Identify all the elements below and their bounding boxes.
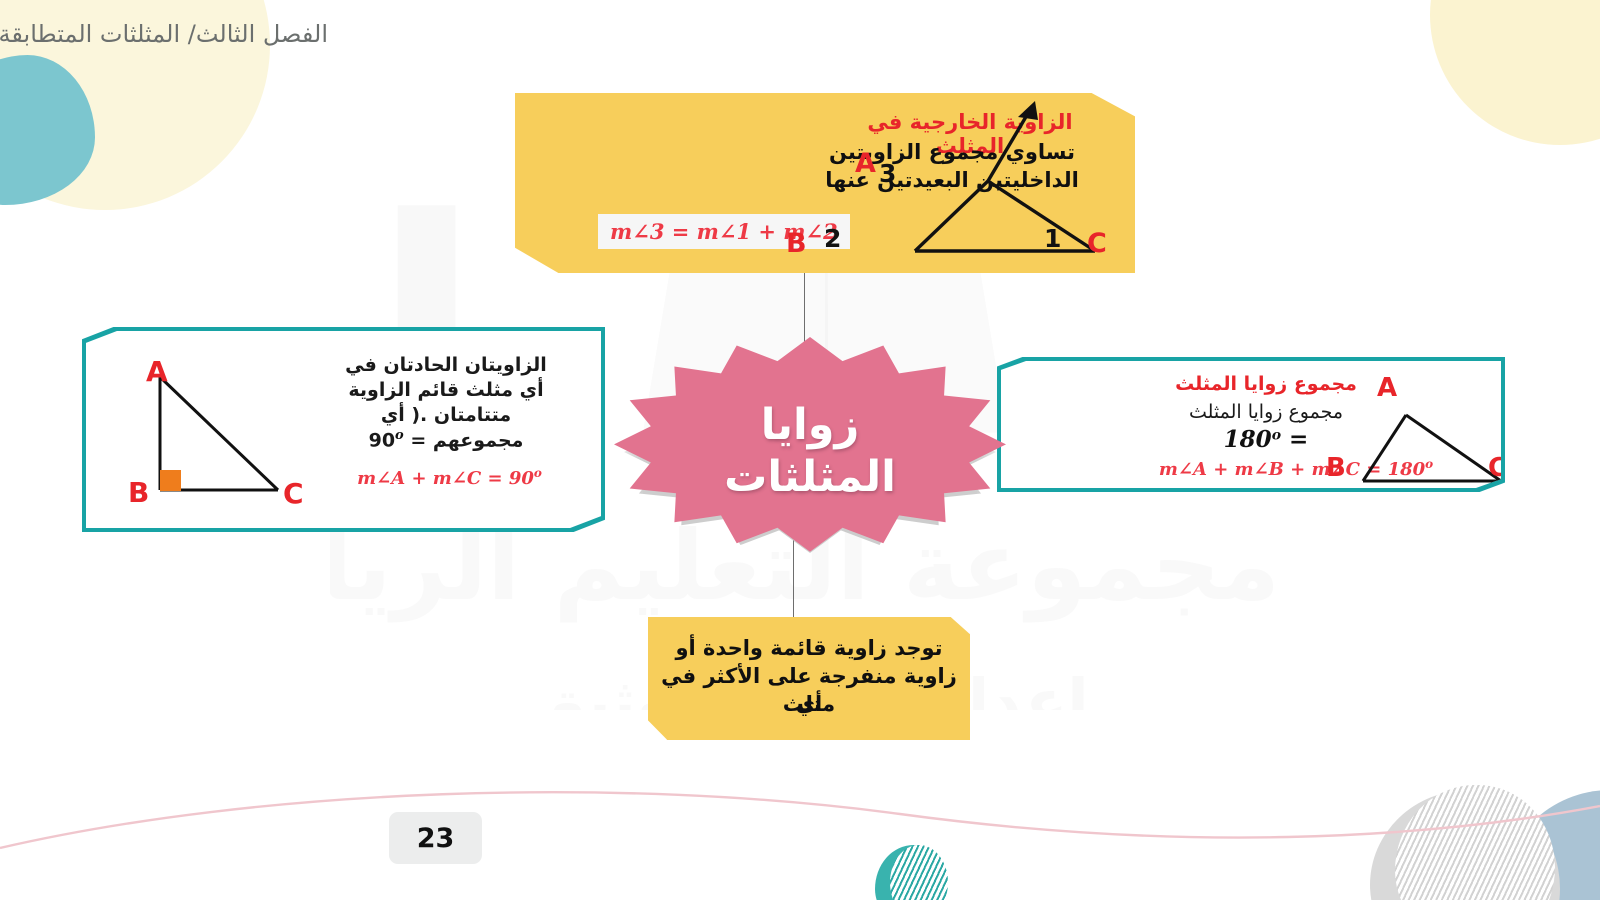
vertex-label-b: B	[786, 228, 807, 259]
decor-blob-yellow-top-right	[1430, 0, 1600, 145]
acute-complementary-line1: الزاويتان الحادتان في	[311, 353, 581, 378]
one-right-or-obtuse-line3: مثلث	[648, 691, 970, 719]
vertex-label-a: A	[855, 148, 876, 179]
acute-complementary-formula-text: m∠A + m∠C = 90	[357, 468, 534, 489]
page-title: الفصل الثالث/ المثلثات المتطابقة	[0, 20, 328, 48]
vertex-label-c: C	[1087, 228, 1107, 259]
starburst-label-line1: زوايا	[614, 399, 1006, 451]
vertex-label-a: A	[146, 355, 168, 388]
vertex-label-b: B	[128, 476, 149, 509]
decor-pink-wave	[0, 770, 1600, 890]
center-starburst[interactable]: زوايا المثلثات	[614, 337, 1006, 573]
acute-complementary-formula: m∠A + m∠C = 90o	[312, 466, 587, 489]
decor-blob-teal-top-left	[0, 55, 95, 205]
page-number-badge: 23	[389, 812, 482, 864]
acute-complementary-line2: أي مثلث قائم الزاوية	[311, 378, 581, 403]
vertex-label-a: A	[1377, 373, 1397, 403]
degree-superscript: o	[395, 428, 404, 443]
card-acute-complementary[interactable]: A B C الزاويتان الحادتان في أي مثلث قائم…	[82, 327, 605, 532]
angle-label-2: 2	[824, 224, 841, 253]
slide-canvas: ا مجموعة التعليم الرياضيات اعداد المعلم …	[0, 0, 1600, 900]
vertex-label-c: C	[283, 477, 304, 510]
vertex-label-b: B	[1326, 453, 1346, 483]
card-angle-sum[interactable]: مجموع زوايا المثلث مجموع زوايا المثلث = …	[997, 357, 1505, 492]
angle-label-3: 3	[879, 159, 896, 188]
exterior-angle-formula: m∠3 = m∠1 + m∠2	[598, 214, 850, 249]
decor-blob-blue-top-right	[1505, 0, 1600, 120]
angle-sum-degree-superscript: o	[1272, 428, 1281, 444]
acute-complementary-line3: متتامتان .( أي	[311, 403, 581, 428]
starburst-label: زوايا المثلثات	[614, 399, 1006, 504]
card-acute-complementary-inner: A B C الزاويتان الحادتان في أي مثلث قائم…	[86, 331, 601, 528]
angle-label-1: 1	[1044, 224, 1061, 253]
angle-sum-value-text: = 180	[1224, 426, 1309, 453]
right-angle-marker	[160, 470, 181, 491]
vertex-label-c: C	[1488, 453, 1507, 483]
card-angle-sum-inner: مجموع زوايا المثلث مجموع زوايا المثلث = …	[1001, 361, 1501, 488]
formula-degree-superscript: o	[534, 466, 542, 480]
one-right-or-obtuse-line1: توجد زاوية قائمة واحدة أو	[648, 635, 970, 663]
card-exterior-angle[interactable]: الزاوية الخارجية في المثلث تساوي مجموع ا…	[515, 93, 1135, 273]
starburst-label-line2: المثلثات	[614, 451, 1006, 503]
acute-complementary-line4: مجموعهم = 90o	[311, 428, 581, 453]
acute-complementary-line4-text: مجموعهم = 90	[369, 429, 524, 451]
card-one-right-or-obtuse[interactable]: توجد زاوية قائمة واحدة أو زاوية منفرجة ع…	[648, 617, 970, 740]
